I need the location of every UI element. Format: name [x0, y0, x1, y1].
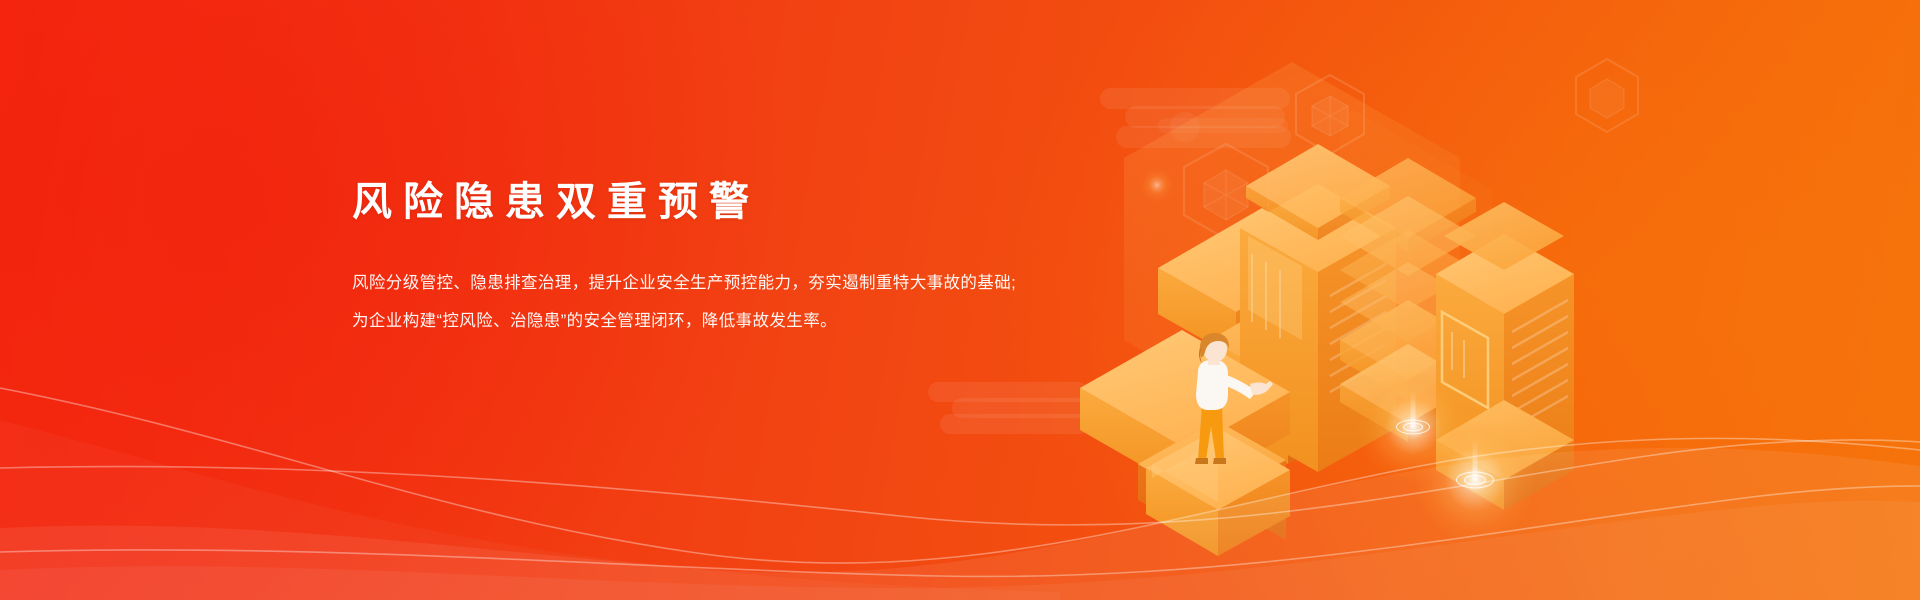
- wave-fill-group: [0, 420, 1920, 600]
- hero-subtitle: 风险分级管控、隐患排查治理，提升企业安全生产预控能力，夯实遏制重特大事故的基础;…: [352, 226, 1112, 340]
- hero-text-block: 风险隐患双重预警 风险分级管控、隐患排查治理，提升企业安全生产预控能力，夯实遏制…: [352, 178, 1112, 340]
- hero-banner: 风险隐患双重预警 风险分级管控、隐患排查治理，提升企业安全生产预控能力，夯实遏制…: [0, 0, 1920, 600]
- subtitle-line-1: 风险分级管控、隐患排查治理，提升企业安全生产预控能力，夯实遏制重特大事故的基础;: [352, 264, 1112, 302]
- subtitle-line-2: 为企业构建“控风险、治隐患”的安全管理闭环，降低事故发生率。: [352, 302, 1112, 340]
- page-title: 风险隐患双重预警: [352, 178, 1112, 226]
